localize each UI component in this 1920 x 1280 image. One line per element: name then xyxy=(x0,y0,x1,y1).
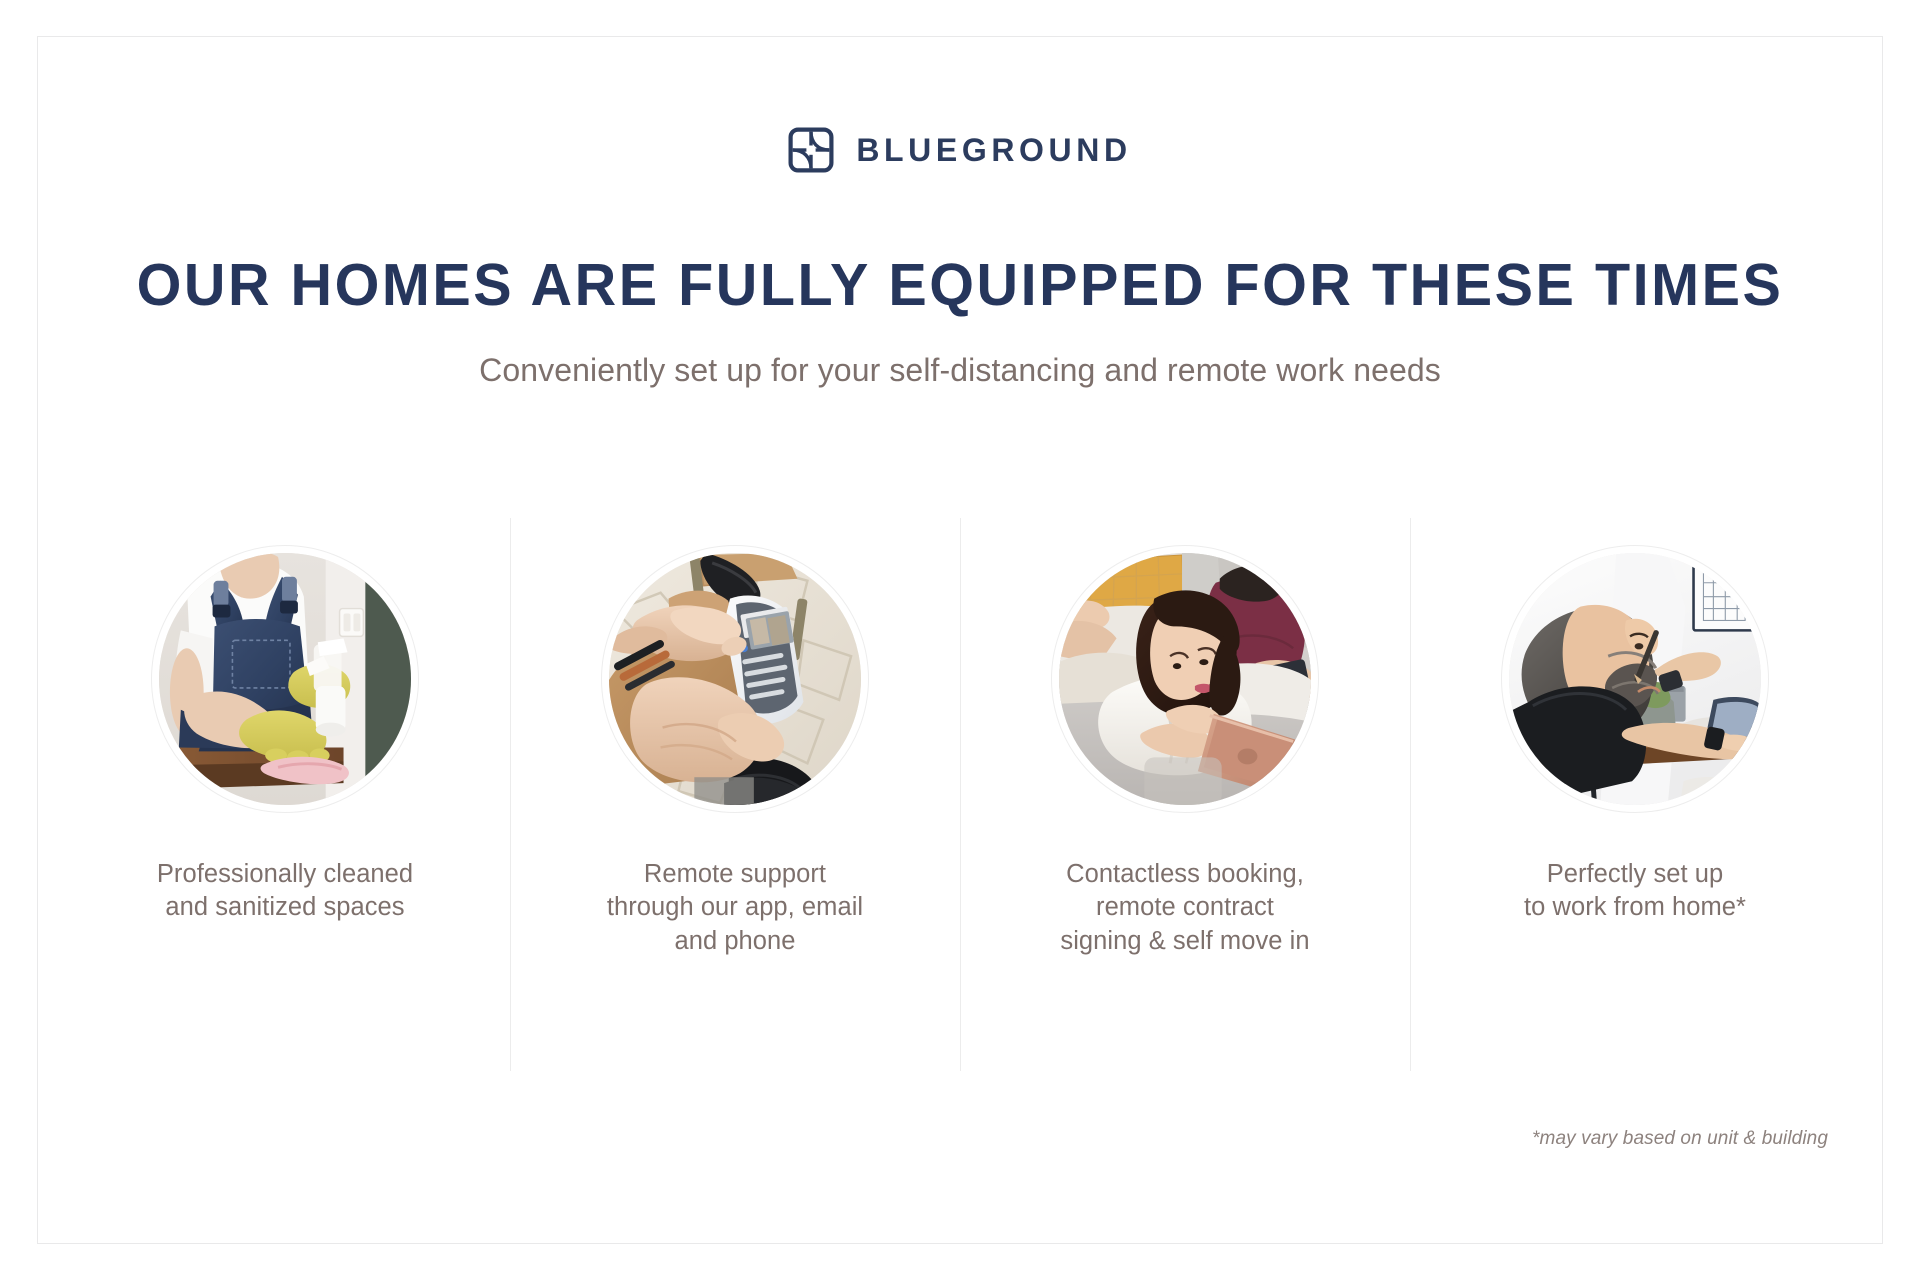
feature-caption: Professionally cleaned and sanitized spa… xyxy=(157,858,413,925)
feature-image-ring xyxy=(151,545,419,813)
feature-column-contactless-booking: Contactless booking, remote contract sig… xyxy=(960,518,1410,1071)
feature-caption: Contactless booking, remote contract sig… xyxy=(1060,858,1309,958)
blueground-logo-icon xyxy=(788,127,834,173)
feature-caption: Remote support through our app, email an… xyxy=(607,858,863,958)
brand-lockup: BLUEGROUND xyxy=(0,127,1920,173)
feature-image-desk xyxy=(1509,553,1761,805)
feature-column-remote-support: Remote support through our app, email an… xyxy=(510,518,960,1071)
feature-image-ring xyxy=(1501,545,1769,813)
feature-caption: Perfectly set up to work from home* xyxy=(1524,858,1746,925)
feature-image-cleaning xyxy=(159,553,411,805)
feature-image-ring xyxy=(601,545,869,813)
feature-image-ring xyxy=(1051,545,1319,813)
feature-grid: Professionally cleaned and sanitized spa… xyxy=(60,518,1860,1071)
feature-column-cleaning: Professionally cleaned and sanitized spa… xyxy=(60,518,510,1071)
brand-wordmark: BLUEGROUND xyxy=(856,134,1131,166)
page-subtitle: Conveniently set up for your self-distan… xyxy=(0,350,1920,390)
feature-image-tablet xyxy=(1059,553,1311,805)
footnote-disclaimer: *may vary based on unit & building xyxy=(1532,1128,1828,1150)
feature-image-phone xyxy=(609,553,861,805)
poster-canvas: BLUEGROUND OUR HOMES ARE FULLY EQUIPPED … xyxy=(0,0,1920,1280)
page-title: OUR HOMES ARE FULLY EQUIPPED FOR THESE T… xyxy=(24,255,1896,317)
feature-column-work-from-home: Perfectly set up to work from home* xyxy=(1410,518,1860,1071)
